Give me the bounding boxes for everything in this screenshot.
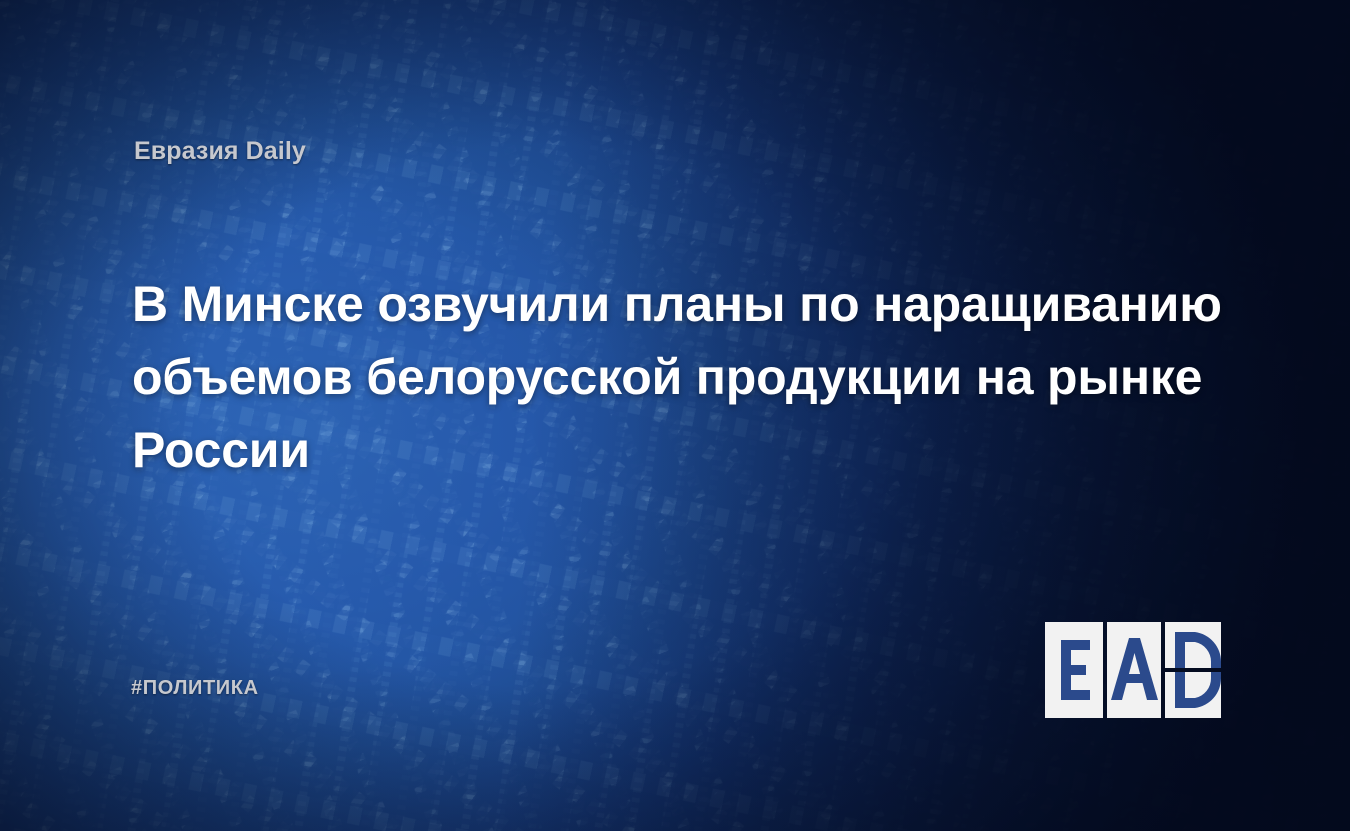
category-hashtag: #ПОЛИТИКА bbox=[131, 677, 259, 700]
eadaily-logo bbox=[1045, 622, 1221, 718]
logo-letter-e bbox=[1061, 640, 1090, 700]
social-card: Евразия Daily В Минске озвучили планы по… bbox=[0, 0, 1350, 831]
publication-wordmark: Евразия Daily bbox=[134, 137, 306, 166]
article-headline: В Минске озвучили планы по наращиванию о… bbox=[132, 268, 1222, 487]
logo-tile-a bbox=[1107, 622, 1161, 718]
